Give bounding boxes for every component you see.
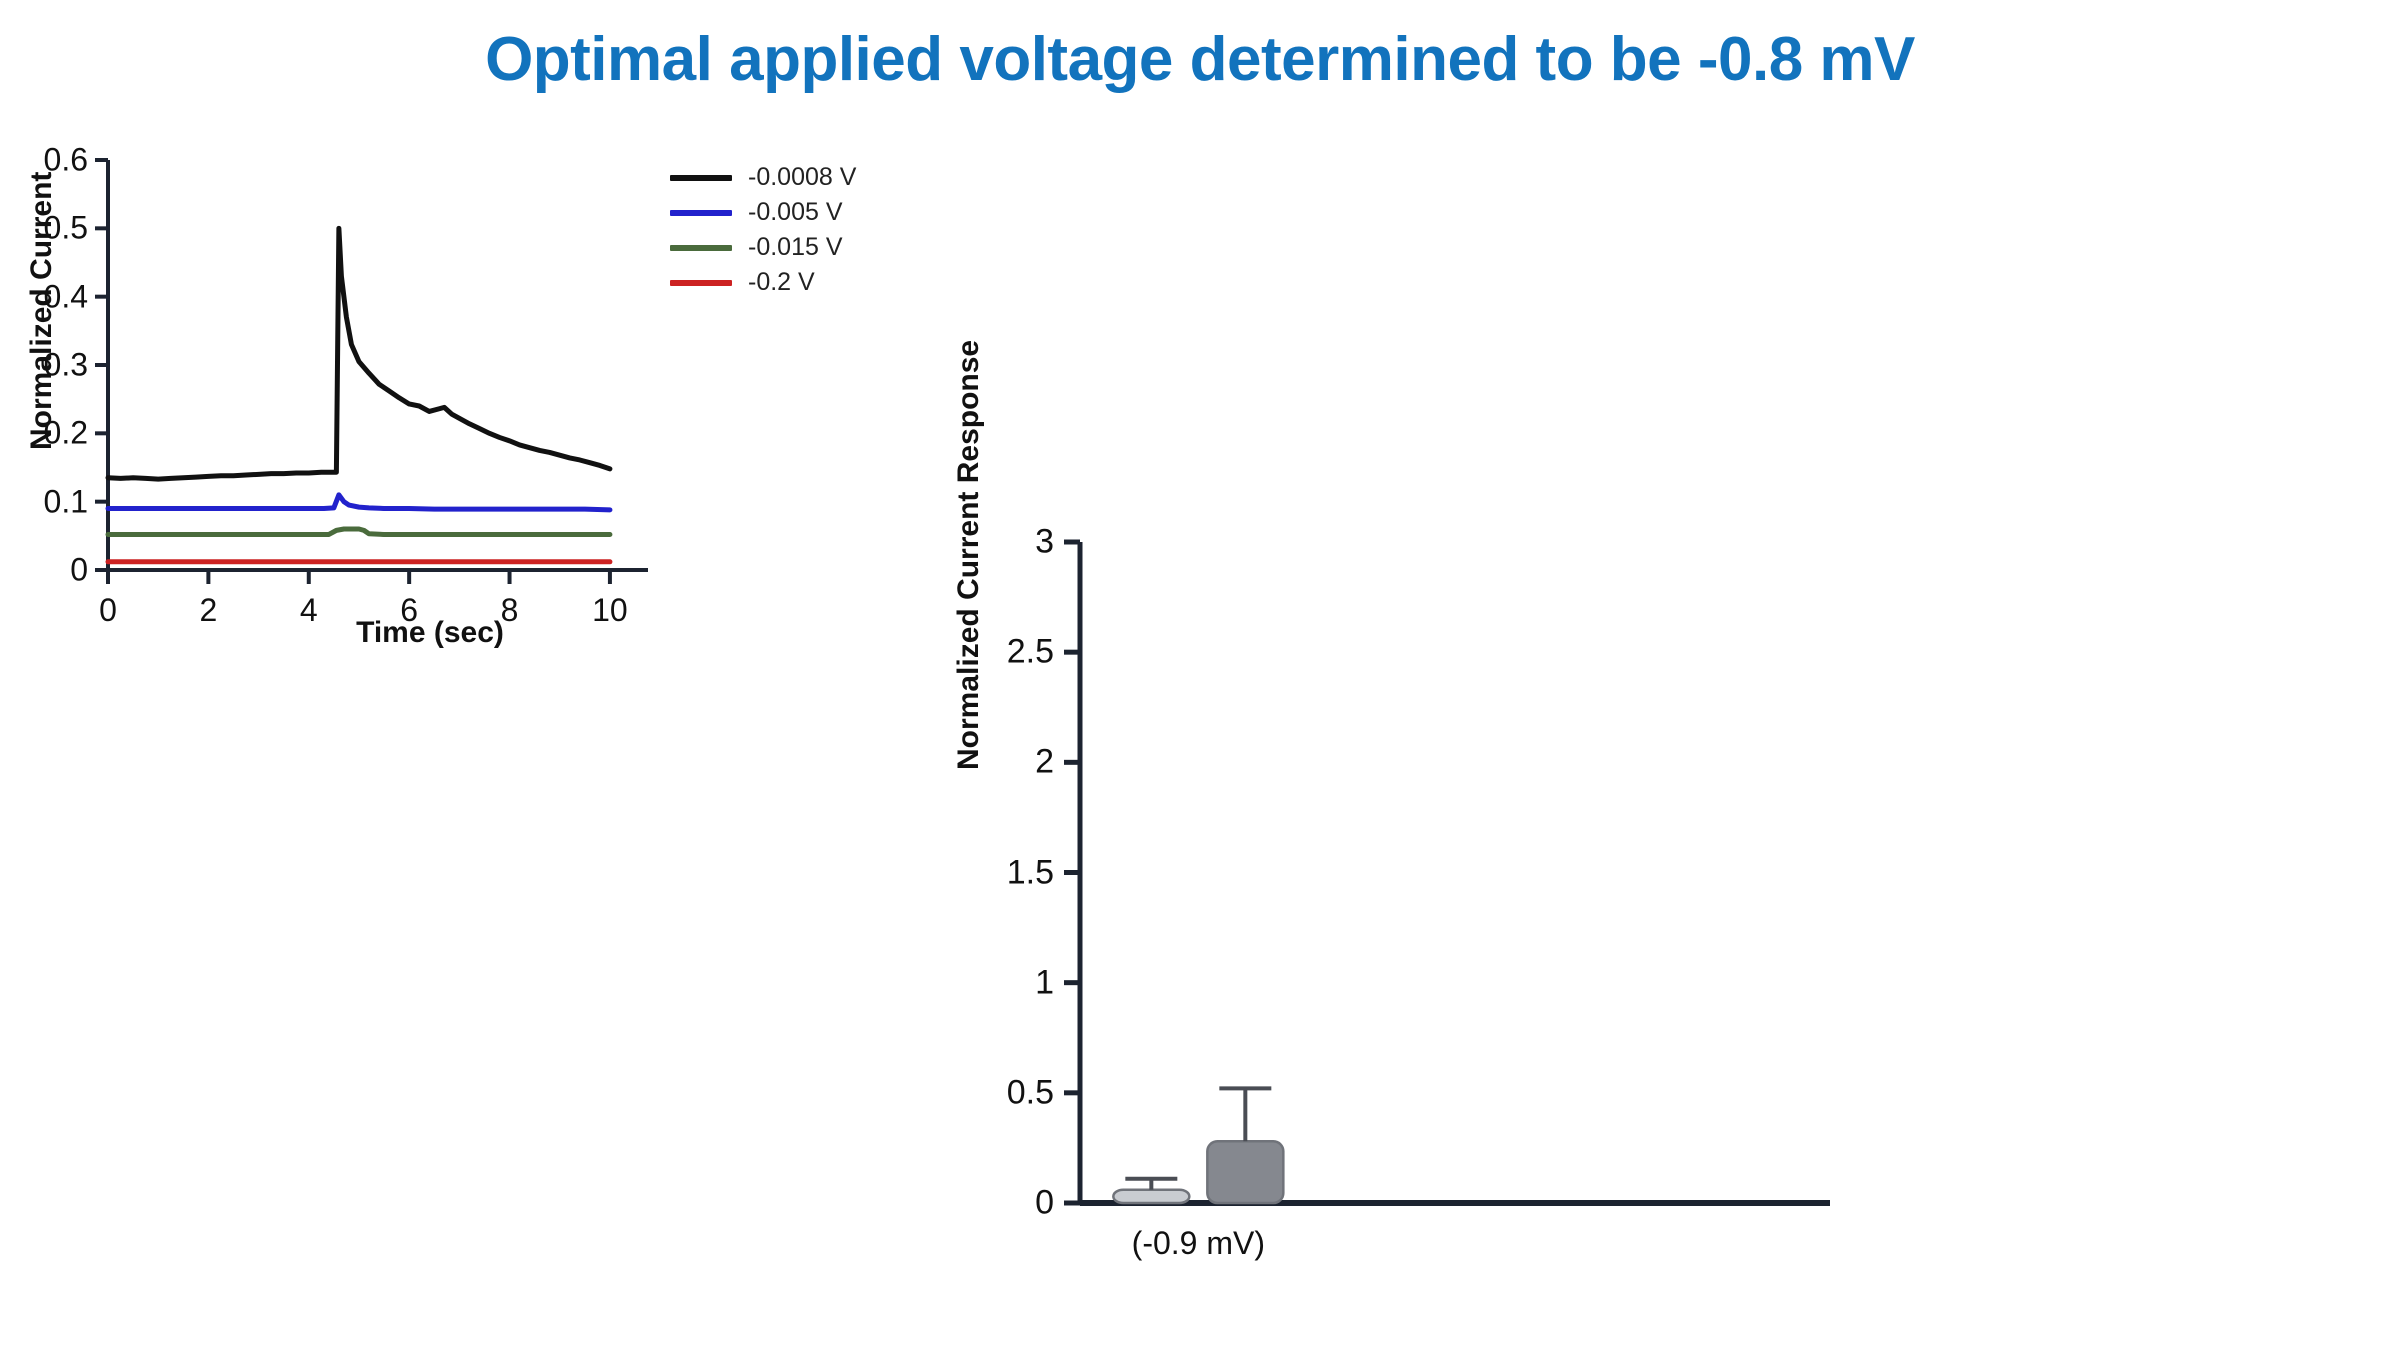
bar-chart-plot: [960, 480, 2020, 1240]
bar-chart-y-tick: 0: [960, 1184, 1054, 1223]
bar-chart-y-tick: 1: [960, 963, 1054, 1002]
legend-series-label: -0.015 V: [748, 233, 843, 262]
legend-color-swatch: [670, 210, 732, 216]
line-chart-x-tick: 2: [199, 592, 217, 629]
bar-chart-y-tick: 2.5: [960, 633, 1054, 672]
legend-color-swatch: [670, 175, 732, 181]
line-chart-y-tick: 0.1: [44, 483, 88, 520]
bar-chart-y-tick: 1.5: [960, 853, 1054, 892]
line-chart-y-tick: 0.4: [44, 278, 88, 315]
bar-chart-y-tick: 0.5: [960, 1073, 1054, 1112]
line-chart-y-tick: 0.6: [44, 142, 88, 179]
line-chart-y-tick: 0: [70, 552, 88, 589]
line-chart-legend-item[interactable]: -0.015 V: [670, 230, 856, 265]
legend-color-swatch: [670, 280, 732, 286]
line-chart-panel: Normalized Current Time (sec) 00.10.20.3…: [30, 150, 990, 1010]
line-chart-x-tick: 8: [501, 592, 519, 629]
line-chart-y-tick: 0.2: [44, 415, 88, 452]
bar-chart-x-tick: (-0.9 mV): [1132, 1225, 1265, 1262]
legend-series-label: -0.2 V: [748, 268, 815, 297]
legend-color-swatch: [670, 245, 732, 251]
line-chart-x-axis-label: Time (sec): [300, 616, 560, 650]
line-chart-x-tick: 4: [300, 592, 318, 629]
page-title: Optimal applied voltage determined to be…: [0, 24, 2400, 95]
legend-series-label: -0.005 V: [748, 198, 843, 227]
line-chart-x-tick: 6: [400, 592, 418, 629]
line-chart-legend-item[interactable]: -0.005 V: [670, 195, 856, 230]
line-chart-x-tick: 10: [592, 592, 628, 629]
line-chart-legend: -0.0008 V-0.005 V-0.015 V-0.2 V: [670, 160, 856, 300]
line-chart-y-tick: 0.3: [44, 347, 88, 384]
bar-chart-y-tick: 3: [960, 523, 1054, 562]
legend-series-label: -0.0008 V: [748, 163, 856, 192]
line-chart-y-tick: 0.5: [44, 210, 88, 247]
bar-chart-panel: Normalized Current Response 00.511.522.5…: [960, 480, 2400, 1340]
line-chart-legend-item[interactable]: -0.2 V: [670, 265, 856, 300]
line-chart-x-tick: 0: [99, 592, 117, 629]
slide-root: Optimal applied voltage determined to be…: [0, 0, 2400, 1350]
line-chart-legend-item[interactable]: -0.0008 V: [670, 160, 856, 195]
bar-chart-y-tick: 2: [960, 743, 1054, 782]
